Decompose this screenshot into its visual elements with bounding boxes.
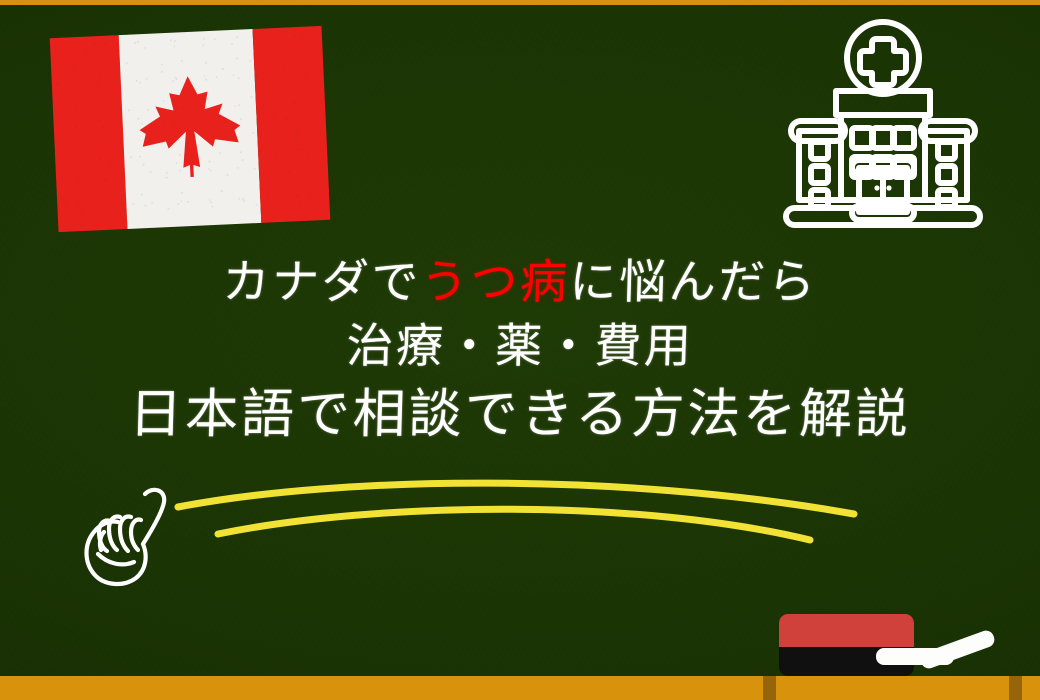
- pointing-hand-icon: [74, 474, 182, 594]
- canada-flag-image: [50, 26, 331, 232]
- eraser-felt-top: [779, 614, 914, 647]
- headline-line-1: カナダでうつ病に悩んだら: [0, 252, 1040, 314]
- headline-line1-suffix: に悩んだら: [569, 255, 818, 310]
- flag-band-right: [252, 26, 330, 223]
- headline-line-2: 治療・薬・費用: [0, 314, 1040, 380]
- maple-leaf-icon: [127, 66, 252, 191]
- chalk-ledge: [0, 676, 1040, 700]
- swoosh-stroke-lower: [218, 509, 810, 540]
- ledge-divider: [763, 676, 776, 700]
- chalkboard-eraser: [779, 614, 914, 676]
- medical-cross-icon: [860, 39, 906, 85]
- headline-line1-prefix: カナダで: [222, 255, 422, 310]
- yellow-swoosh-underline: [170, 466, 860, 546]
- headline-line-3: 日本語で相談できる方法を解説: [0, 380, 1040, 450]
- top-accent-rule: [0, 0, 1040, 5]
- ledge-divider: [1009, 676, 1022, 700]
- headline-line1-accent: うつ病: [420, 255, 570, 310]
- headline-block: カナダでうつ病に悩んだら 治療・薬・費用 日本語で相談できる方法を解説: [0, 252, 1040, 450]
- flag-band-left: [50, 35, 128, 232]
- hospital-building-icon: [773, 16, 993, 228]
- blackboard-thumbnail: カナダでうつ病に悩んだら 治療・薬・費用 日本語で相談できる方法を解説: [0, 0, 1040, 700]
